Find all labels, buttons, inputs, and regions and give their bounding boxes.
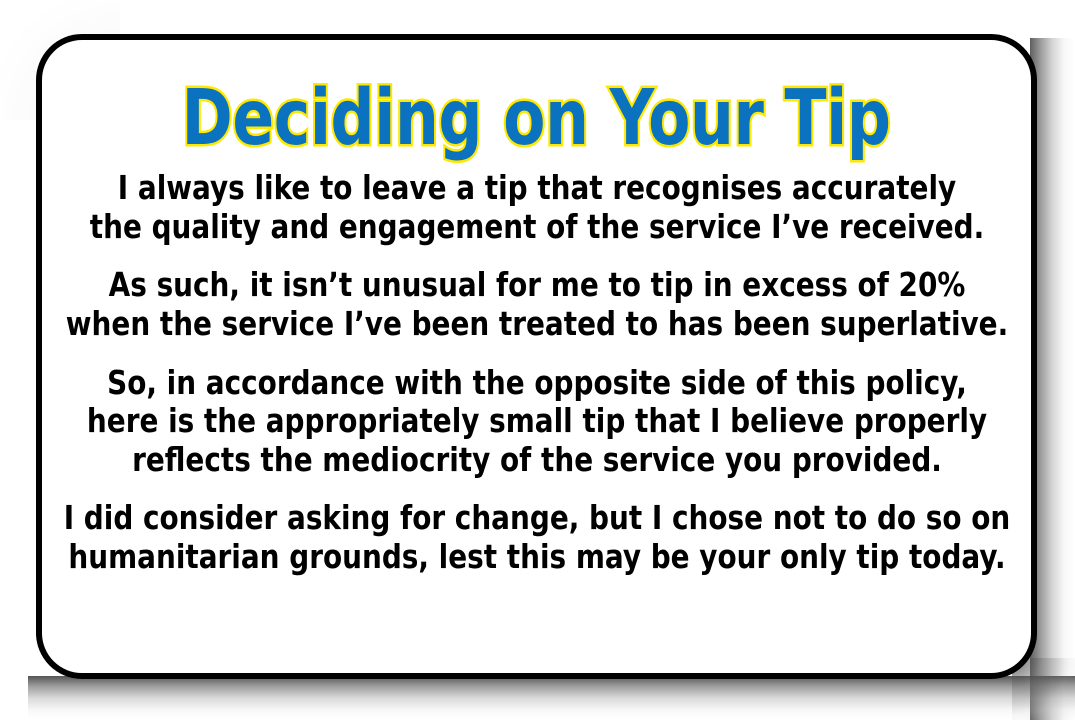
card-shadow-bottom	[28, 676, 1075, 720]
card-body: I always like to leave a tip that recogn…	[47, 169, 1027, 576]
card-content: Deciding on Your Tip I always like to le…	[42, 40, 1031, 673]
tip-policy-card: Deciding on Your Tip I always like to le…	[36, 34, 1037, 679]
card-title: Deciding on Your Tip	[179, 82, 894, 155]
body-paragraph-1: I always like to leave a tip that recogn…	[51, 169, 1023, 246]
page-canvas: Deciding on Your Tip I always like to le…	[0, 0, 1075, 720]
body-paragraph-3: So, in accordance with the opposite side…	[51, 364, 1023, 480]
body-paragraph-4: I did consider asking for change, but I …	[51, 499, 1023, 576]
body-paragraph-2: As such, it isn’t unusual for me to tip …	[51, 266, 1023, 343]
